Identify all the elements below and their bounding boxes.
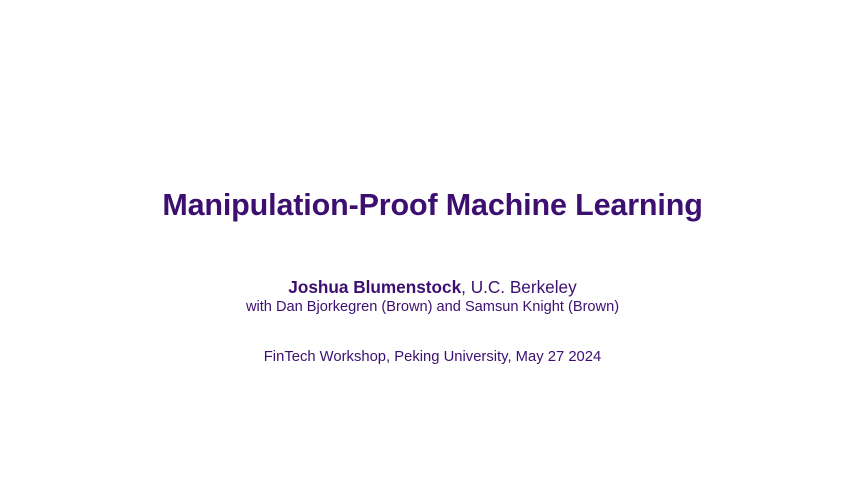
- coauthor-line: with Dan Bjorkegren (Brown) and Samsun K…: [0, 298, 865, 317]
- author-name: Joshua Blumenstock: [288, 277, 461, 297]
- author-affiliation: , U.C. Berkeley: [461, 277, 577, 297]
- title-block: Manipulation-Proof Machine Learning: [0, 186, 865, 224]
- venue-line: FinTech Workshop, Peking University, May…: [0, 347, 865, 367]
- author-line: Joshua Blumenstock, U.C. Berkeley: [0, 276, 865, 298]
- venue-block: FinTech Workshop, Peking University, May…: [0, 347, 865, 367]
- page-title: Manipulation-Proof Machine Learning: [0, 186, 865, 224]
- author-block: Joshua Blumenstock, U.C. Berkeley with D…: [0, 276, 865, 317]
- title-slide: Manipulation-Proof Machine Learning Josh…: [0, 0, 865, 487]
